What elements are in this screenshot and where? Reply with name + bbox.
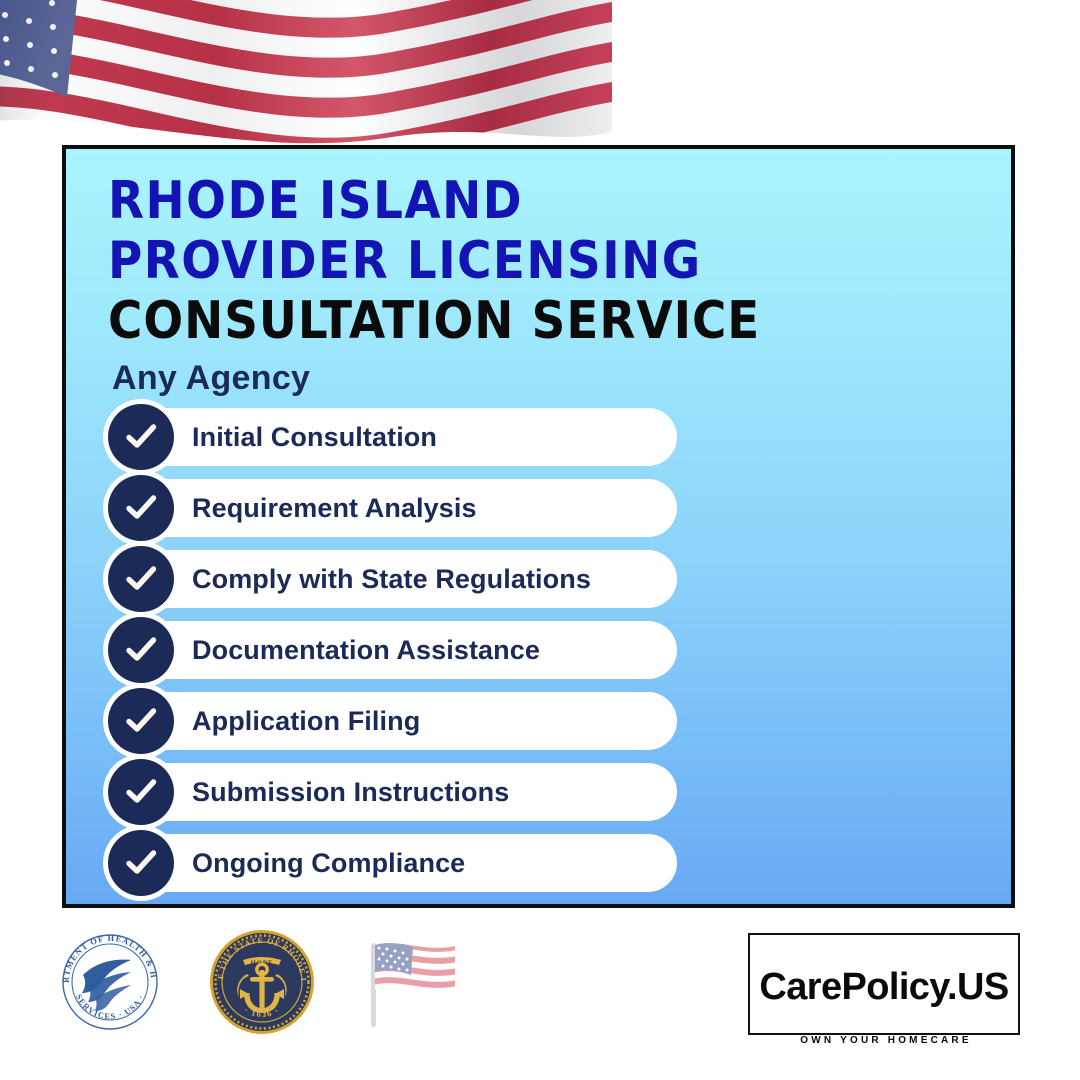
list-item-label: Documentation Assistance (192, 635, 540, 666)
agency-badges: DEPARTMENT OF HEALTH & HUMAN SERVICES · … (55, 927, 469, 1037)
hhs-seal-icon: DEPARTMENT OF HEALTH & HUMAN SERVICES · … (55, 927, 165, 1037)
check-icon (108, 546, 174, 612)
check-icon (108, 617, 174, 683)
title-line-1: RHODE ISLAND (108, 171, 1011, 231)
page-title: RHODE ISLAND PROVIDER LICENSING CONSULTA… (66, 149, 1011, 351)
list-item-label: Ongoing Compliance (192, 848, 465, 879)
check-icon (108, 830, 174, 896)
footer: DEPARTMENT OF HEALTH & HUMAN SERVICES · … (0, 915, 1080, 1080)
title-line-2: PROVIDER LICENSING (108, 231, 1011, 291)
check-icon (108, 759, 174, 825)
us-flag-icon (359, 927, 469, 1037)
list-item[interactable]: Submission Instructions (104, 763, 677, 821)
list-item[interactable]: Ongoing Compliance (104, 834, 677, 892)
brand-tagline: OWN YOUR HOMECARE (790, 1035, 981, 1046)
list-item[interactable]: Application Filing (104, 692, 677, 750)
list-item[interactable]: Requirement Analysis (104, 479, 677, 537)
list-item[interactable]: Comply with State Regulations (104, 550, 677, 608)
list-item-label: Comply with State Regulations (192, 564, 591, 595)
list-item-label: Requirement Analysis (192, 493, 477, 524)
list-item-label: Initial Consultation (192, 422, 437, 453)
list-item-label: Submission Instructions (192, 777, 509, 808)
checklist: Initial Consultation Requirement Analysi… (104, 408, 1011, 892)
list-item[interactable]: Initial Consultation (104, 408, 677, 466)
title-line-3: CONSULTATION SERVICE (108, 291, 1011, 351)
brand-logo: CarePolicy.US OWN YOUR HOMECARE (748, 933, 1020, 1035)
brand-name: CarePolicy.US (759, 966, 1008, 1009)
brand-tagline-wrap: OWN YOUR HOMECARE (750, 1035, 1022, 1046)
rhode-island-state-seal-icon: SEAL OF THE STATE OF RHODE ISLAND · 1636… (207, 927, 317, 1037)
check-icon (108, 475, 174, 541)
check-icon (108, 404, 174, 470)
list-item[interactable]: Documentation Assistance (104, 621, 677, 679)
check-icon (108, 688, 174, 754)
list-item-label: Application Filing (192, 706, 420, 737)
service-card: RHODE ISLAND PROVIDER LICENSING CONSULTA… (62, 145, 1015, 908)
subtitle: Any Agency (112, 359, 1011, 398)
